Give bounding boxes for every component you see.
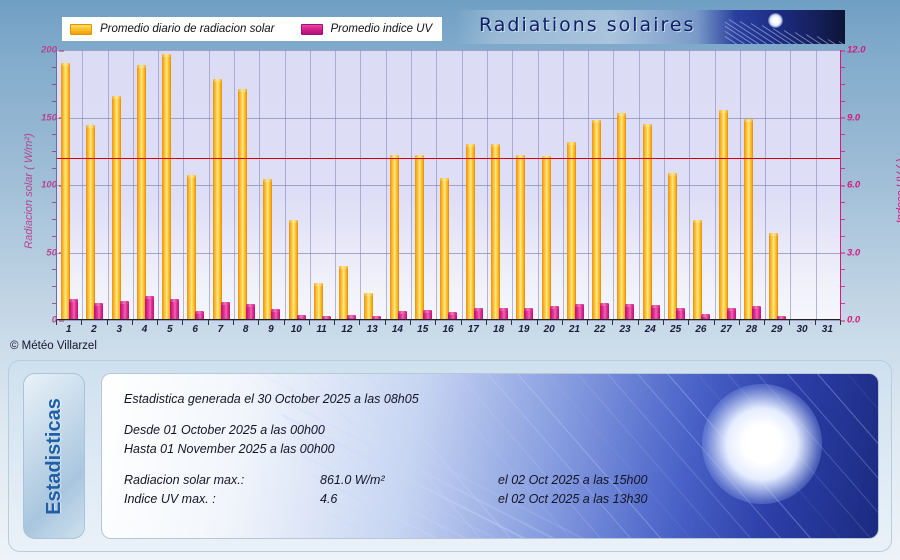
bar-solar[interactable] bbox=[466, 146, 475, 319]
bar-uv[interactable] bbox=[120, 303, 129, 319]
y-axis-tick-left: 200 bbox=[7, 45, 57, 56]
bar-solar[interactable] bbox=[592, 122, 601, 319]
page-title: Radiations solaires bbox=[479, 14, 695, 36]
x-axis-tick-label: 16 bbox=[435, 324, 461, 335]
x-axis-tick-label: 6 bbox=[182, 324, 208, 335]
bar-uv[interactable] bbox=[499, 310, 508, 319]
bar-group[interactable] bbox=[411, 50, 436, 319]
plot-area bbox=[56, 50, 840, 320]
bar-uv[interactable] bbox=[145, 298, 154, 319]
legend-label-uv: Promedio indice UV bbox=[331, 23, 433, 35]
bar-uv[interactable] bbox=[94, 305, 103, 319]
statistics-row-value: 4.6 bbox=[320, 490, 498, 509]
x-axis-tick-label: 15 bbox=[410, 324, 436, 335]
y-axis-minor-tick-left bbox=[52, 168, 56, 169]
bar-uv[interactable] bbox=[625, 306, 634, 319]
bar-solar[interactable] bbox=[314, 285, 323, 319]
x-axis-tick-label: 9 bbox=[258, 324, 284, 335]
bar-solar[interactable] bbox=[769, 235, 778, 319]
bar-solar[interactable] bbox=[86, 127, 95, 319]
from-line: Desde 01 October 2025 a las 00h00 bbox=[124, 421, 647, 440]
statistics-panel: Estadisticas Estadistica generada el 30 … bbox=[8, 360, 892, 552]
x-axis-tick-label: 26 bbox=[688, 324, 714, 335]
y-axis-tick-left: 100 bbox=[7, 180, 57, 191]
y-axis-minor-tick-left bbox=[52, 219, 56, 220]
bar-uv[interactable] bbox=[297, 317, 306, 319]
statistics-text-block: Estadistica generada el 30 October 2025 … bbox=[124, 390, 647, 509]
y-axis-minor-tick-right bbox=[841, 67, 845, 68]
y-axis-minor-tick-right bbox=[841, 219, 845, 220]
y-axis-minor-tick-left bbox=[52, 84, 56, 85]
x-axis-tick-label: 23 bbox=[612, 324, 638, 335]
bar-uv[interactable] bbox=[701, 316, 710, 319]
x-axis-tick-label: 29 bbox=[764, 324, 790, 335]
solar-radiation-chart-panel: Radiations solaires Promedio diario de r… bbox=[0, 0, 900, 358]
bar-group[interactable] bbox=[386, 50, 411, 319]
y-axis-tick-left: 150 bbox=[7, 112, 57, 123]
y-axis-minor-tick-right bbox=[841, 269, 845, 270]
solar-panel-graphic bbox=[725, 10, 845, 44]
bar-solar[interactable] bbox=[289, 222, 298, 319]
y-axis-minor-tick-right bbox=[841, 286, 845, 287]
y-axis-minor-tick-right bbox=[841, 303, 845, 304]
bar-group[interactable] bbox=[512, 50, 537, 319]
bar-group[interactable] bbox=[740, 50, 765, 319]
statistics-row-label: Indice UV max. : bbox=[124, 490, 320, 509]
bar-group[interactable] bbox=[310, 50, 335, 319]
y-axis-minor-tick-left bbox=[52, 101, 56, 102]
x-axis-tick-label: 31 bbox=[814, 324, 840, 335]
y-axis-label-right: Indece UV ( ) bbox=[895, 96, 900, 286]
y-axis-minor-tick-right bbox=[841, 101, 845, 102]
bar-group[interactable] bbox=[259, 50, 284, 319]
bar-solar[interactable] bbox=[162, 56, 171, 319]
x-axis-tick-label: 18 bbox=[486, 324, 512, 335]
bar-solar[interactable] bbox=[238, 91, 247, 319]
bar-uv[interactable] bbox=[727, 310, 736, 319]
y-axis-minor-tick-right bbox=[841, 168, 845, 169]
bar-solar[interactable] bbox=[390, 157, 399, 319]
y-axis-tick-right: 9.0 bbox=[847, 112, 860, 123]
bar-uv[interactable] bbox=[651, 307, 660, 319]
y-axis-minor-tick-right bbox=[841, 151, 845, 152]
bar-uv[interactable] bbox=[600, 305, 609, 319]
bar-group[interactable] bbox=[790, 50, 815, 319]
bar-uv[interactable] bbox=[550, 308, 559, 319]
x-axis-tick-label: 28 bbox=[738, 324, 764, 335]
statistics-rows: Radiacion solar max.:861.0 W/m²el 02 Oct… bbox=[124, 471, 647, 509]
bar-solar[interactable] bbox=[668, 175, 677, 319]
y-axis-minor-tick-left bbox=[52, 202, 56, 203]
bar-solar[interactable] bbox=[693, 222, 702, 319]
bar-group[interactable] bbox=[158, 50, 183, 319]
x-axis-tick-label: 7 bbox=[207, 324, 233, 335]
x-axis-tick-label: 14 bbox=[384, 324, 410, 335]
x-axis-tick-label: 27 bbox=[713, 324, 739, 335]
bar-group[interactable] bbox=[613, 50, 638, 319]
bar-solar[interactable] bbox=[213, 81, 222, 319]
legend-swatch-solar bbox=[70, 24, 92, 35]
y-axis-tick-right: 3.0 bbox=[847, 247, 860, 258]
bar-uv[interactable] bbox=[195, 313, 204, 319]
sun-icon bbox=[702, 384, 822, 504]
bar-uv[interactable] bbox=[676, 310, 685, 319]
bar-uv[interactable] bbox=[372, 318, 381, 319]
bar-solar[interactable] bbox=[263, 181, 272, 319]
statistics-row-value: 861.0 W/m² bbox=[320, 471, 498, 490]
bar-group[interactable] bbox=[335, 50, 360, 319]
statistics-row-timestamp: el 02 Oct 2025 a las 15h00 bbox=[498, 471, 647, 490]
y-axis-minor-tick-left bbox=[52, 303, 56, 304]
statistics-row-timestamp: el 02 Oct 2025 a las 13h30 bbox=[498, 490, 647, 509]
bar-group[interactable] bbox=[487, 50, 512, 319]
y-axis-tick-right: 6.0 bbox=[847, 180, 860, 191]
bar-solar[interactable] bbox=[440, 180, 449, 319]
x-axis-tick-label: 12 bbox=[334, 324, 360, 335]
y-axis-minor-tick-right bbox=[841, 202, 845, 203]
bar-group[interactable] bbox=[209, 50, 234, 319]
bar-solar[interactable] bbox=[415, 157, 424, 319]
x-axis-tick-label: 19 bbox=[511, 324, 537, 335]
x-axis-tick-label: 2 bbox=[81, 324, 107, 335]
bar-uv[interactable] bbox=[221, 304, 230, 319]
threshold-line bbox=[57, 158, 840, 159]
bar-group[interactable] bbox=[360, 50, 385, 319]
x-axis-tick-label: 20 bbox=[536, 324, 562, 335]
legend-label-solar: Promedio diario de radiacion solar bbox=[100, 23, 275, 35]
bar-solar[interactable] bbox=[719, 112, 728, 319]
bar-group[interactable] bbox=[183, 50, 208, 319]
bar-solar[interactable] bbox=[542, 158, 551, 319]
x-axis-tick-label: 24 bbox=[637, 324, 663, 335]
title-banner: Radiations solaires bbox=[455, 10, 845, 44]
bar-uv[interactable] bbox=[448, 314, 457, 319]
x-axis-tick-label: 1 bbox=[56, 324, 82, 335]
bar-solar[interactable] bbox=[61, 65, 70, 319]
x-axis-tick-label: 22 bbox=[587, 324, 613, 335]
x-axis-tick-label: 30 bbox=[789, 324, 815, 335]
statistics-row-label: Radiacion solar max.: bbox=[124, 471, 320, 490]
bar-group[interactable] bbox=[436, 50, 461, 319]
gridline-horizontal bbox=[57, 320, 840, 321]
bar-group[interactable] bbox=[639, 50, 664, 319]
bar-group[interactable] bbox=[82, 50, 107, 319]
bar-group[interactable] bbox=[57, 50, 82, 319]
bar-group[interactable] bbox=[234, 50, 259, 319]
copyright-text: © Météo Villarzel bbox=[10, 340, 97, 352]
y-axis-minor-tick-left bbox=[52, 286, 56, 287]
bar-group[interactable] bbox=[133, 50, 158, 319]
bar-group[interactable] bbox=[462, 50, 487, 319]
bar-uv[interactable] bbox=[398, 313, 407, 319]
bar-uv[interactable] bbox=[777, 318, 786, 319]
bar-uv[interactable] bbox=[69, 301, 78, 319]
y-axis-tick-right: 0.0 bbox=[847, 315, 860, 326]
bar-uv[interactable] bbox=[474, 310, 483, 319]
bar-uv[interactable] bbox=[347, 317, 356, 319]
bar-group[interactable] bbox=[538, 50, 563, 319]
y-axis-minor-tick-left bbox=[52, 134, 56, 135]
sun-icon bbox=[768, 13, 783, 28]
statistics-tab-label: Estadisticas bbox=[43, 398, 66, 515]
bar-uv[interactable] bbox=[322, 318, 331, 319]
bar-uv[interactable] bbox=[423, 312, 432, 319]
bar-group[interactable] bbox=[664, 50, 689, 319]
bar-uv[interactable] bbox=[575, 306, 584, 320]
y-axis-tick-right: 12.0 bbox=[847, 45, 866, 56]
bar-solar[interactable] bbox=[567, 144, 576, 320]
y-axis-minor-tick-right bbox=[841, 134, 845, 135]
bar-uv[interactable] bbox=[752, 308, 761, 319]
y-axis-minor-tick-left bbox=[52, 151, 56, 152]
y-axis-tick-left: 50 bbox=[7, 247, 57, 258]
legend-swatch-uv bbox=[301, 24, 323, 35]
x-axis-tick-label: 8 bbox=[233, 324, 259, 335]
bar-solar[interactable] bbox=[643, 126, 652, 319]
y-axis-minor-tick-left bbox=[52, 269, 56, 270]
x-axis-tick-label: 25 bbox=[663, 324, 689, 335]
bar-solar[interactable] bbox=[112, 98, 121, 319]
x-axis-tick-mark bbox=[840, 320, 841, 325]
y-axis-minor-tick-left bbox=[52, 67, 56, 68]
bar-uv[interactable] bbox=[271, 311, 280, 319]
to-line: Hasta 01 November 2025 a las 00h00 bbox=[124, 440, 647, 459]
x-axis-tick-label: 13 bbox=[359, 324, 385, 335]
x-axis-tick-label: 3 bbox=[106, 324, 132, 335]
bar-solar[interactable] bbox=[339, 268, 348, 319]
y-axis-minor-tick-right bbox=[841, 84, 845, 85]
y-axis-minor-tick-right bbox=[841, 236, 845, 237]
bar-group[interactable] bbox=[588, 50, 613, 319]
bar-solar[interactable] bbox=[187, 177, 196, 319]
statistics-row: Indice UV max. :4.6el 02 Oct 2025 a las … bbox=[124, 490, 647, 509]
generated-line: Estadistica generada el 30 October 2025 … bbox=[124, 390, 647, 409]
bar-solar[interactable] bbox=[137, 67, 146, 319]
bar-uv[interactable] bbox=[170, 301, 179, 319]
y-axis-tick-left: 0 bbox=[7, 315, 57, 326]
x-axis-tick-label: 17 bbox=[460, 324, 486, 335]
bar-solar[interactable] bbox=[617, 115, 626, 319]
y-axis-minor-tick-left bbox=[52, 236, 56, 237]
bar-group[interactable] bbox=[108, 50, 133, 319]
bar-group[interactable] bbox=[765, 50, 790, 319]
statistics-row: Radiacion solar max.:861.0 W/m²el 02 Oct… bbox=[124, 471, 647, 490]
x-axis-tick-label: 21 bbox=[561, 324, 587, 335]
bar-solar[interactable] bbox=[516, 157, 525, 319]
x-axis-tick-label: 4 bbox=[132, 324, 158, 335]
bar-uv[interactable] bbox=[246, 306, 255, 319]
bar-group[interactable] bbox=[689, 50, 714, 319]
x-axis-tick-label: 11 bbox=[309, 324, 335, 335]
bar-solar[interactable] bbox=[491, 146, 500, 319]
statistics-tab[interactable]: Estadisticas bbox=[23, 373, 85, 539]
bar-group[interactable] bbox=[816, 50, 841, 319]
chart-legend: Promedio diario de radiacion solar Prome… bbox=[62, 17, 442, 41]
bar-uv[interactable] bbox=[524, 310, 533, 319]
bar-solar[interactable] bbox=[744, 121, 753, 319]
x-axis-tick-label: 10 bbox=[283, 324, 309, 335]
bar-group[interactable] bbox=[285, 50, 310, 319]
bar-group[interactable] bbox=[563, 50, 588, 319]
bar-group[interactable] bbox=[715, 50, 740, 319]
statistics-card: Estadistica generada el 30 October 2025 … bbox=[101, 373, 879, 539]
x-axis-tick-label: 5 bbox=[157, 324, 183, 335]
